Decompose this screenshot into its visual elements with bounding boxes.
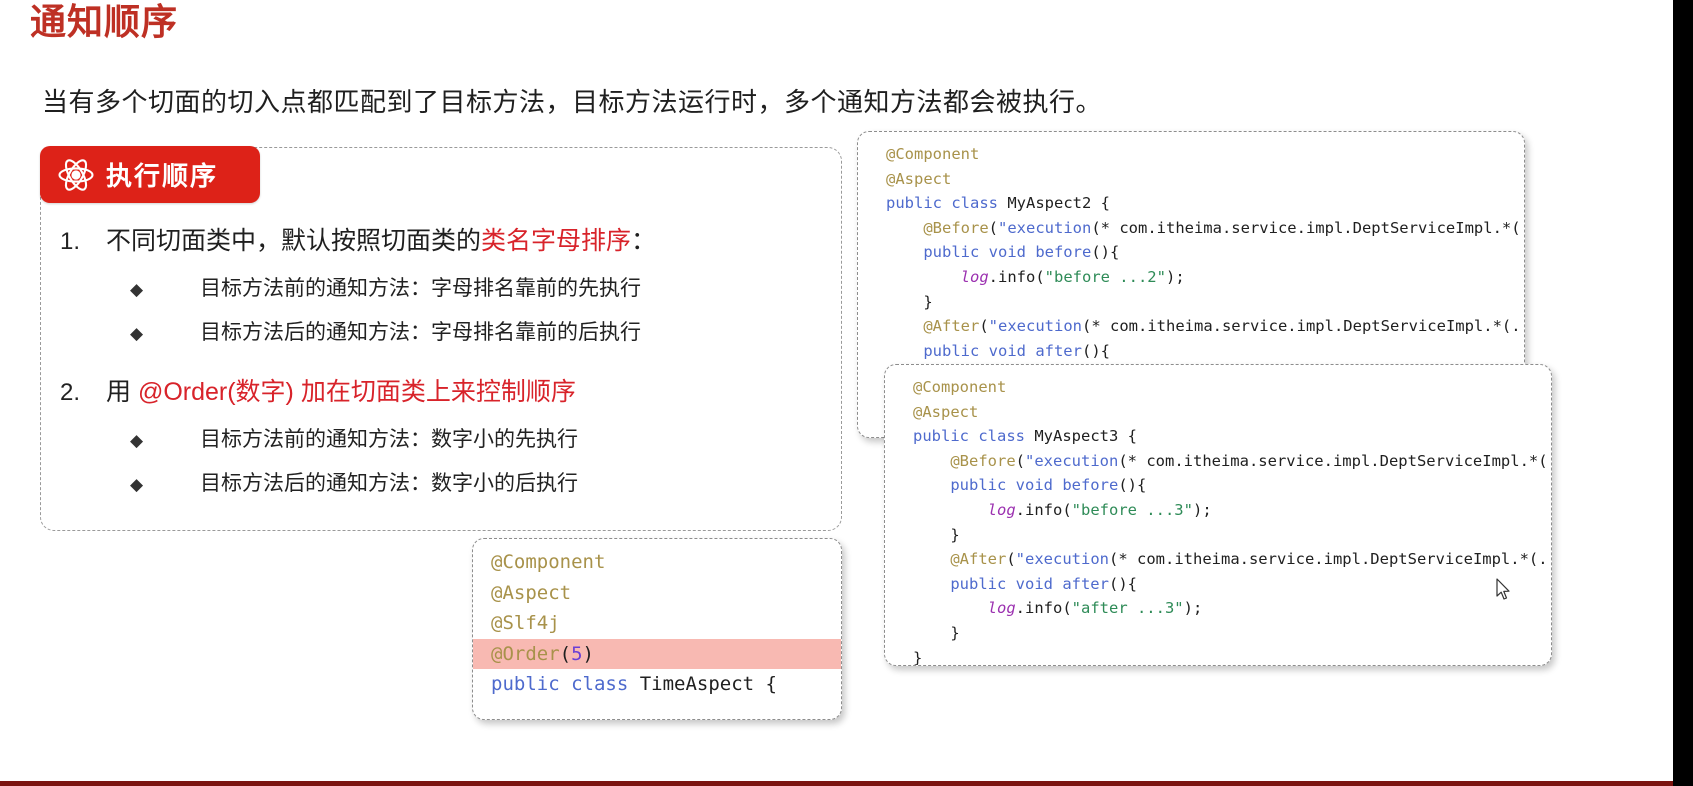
code-panel-timeaspect[interactable]: @Component @Aspect @Slf4j @Order(5) publ…	[472, 538, 842, 720]
code-line: log.info("before ...2");	[886, 265, 1524, 290]
rule-1-sub-2-text: 目标方法后的通知方法：字母排名靠前的后执行	[186, 316, 641, 350]
execution-order-badge: 执行顺序	[40, 146, 260, 203]
rule-1-sub-1: ◆ 目标方法前的通知方法：字母排名靠前的先执行	[60, 272, 830, 307]
code-line: public class MyAspect3 {	[913, 424, 1551, 449]
code-line: public void after(){	[913, 572, 1551, 597]
code-line: }	[913, 621, 1551, 646]
code-panel-myaspect3[interactable]: @Component @Aspect public class MyAspect…	[884, 364, 1552, 666]
code-line: @Component	[473, 547, 841, 578]
diamond-bullet-icon: ◆	[60, 424, 186, 458]
rule-2-text: 用 @Order(数字) 加在切面类上来控制顺序	[106, 373, 576, 411]
code-line-highlighted: @Order(5)	[473, 639, 841, 670]
rule-1-text: 不同切面类中，默认按照切面类的类名字母排序：	[106, 222, 656, 260]
diamond-bullet-icon: ◆	[60, 317, 186, 351]
rules-list: 1. 不同切面类中，默认按照切面类的类名字母排序： ◆ 目标方法前的通知方法：字…	[60, 222, 830, 511]
rule-item-2: 2. 用 @Order(数字) 加在切面类上来控制顺序	[60, 373, 830, 412]
rule-1-sub-2: ◆ 目标方法后的通知方法：字母排名靠前的后执行	[60, 316, 830, 351]
code-line: @Component	[886, 142, 1524, 167]
rule-2-number: 2.	[60, 374, 106, 412]
rule-item-1: 1. 不同切面类中，默认按照切面类的类名字母排序：	[60, 222, 830, 261]
code-line: public void before(){	[913, 473, 1551, 498]
rule-1-text-before: 不同切面类中，默认按照切面类的	[106, 227, 481, 255]
code-line: }	[913, 646, 1551, 666]
rule-2-highlight: @Order(数字) 加在切面类上来控制顺序	[138, 378, 576, 406]
code-line: log.info("before ...3");	[913, 498, 1551, 523]
code-line: }	[886, 290, 1524, 315]
diamond-bullet-icon: ◆	[60, 468, 186, 502]
code-line: @Aspect	[913, 400, 1551, 425]
code-line: @After("execution(* com.itheima.service.…	[913, 547, 1551, 572]
atom-icon	[54, 153, 98, 197]
slide-canvas: 通知顺序 当有多个切面的切入点都匹配到了目标方法，目标方法运行时，多个通知方法都…	[0, 0, 1693, 786]
rule-2-text-before: 用	[106, 378, 138, 406]
code-line: }	[913, 523, 1551, 548]
right-edge-strip	[1673, 0, 1693, 786]
code-line: @Slf4j	[473, 608, 841, 639]
code-line: log.info("after ...3");	[913, 596, 1551, 621]
execution-order-badge-label: 执行顺序	[106, 156, 218, 193]
rule-1-text-after: ：	[631, 227, 656, 255]
code-line: @Aspect	[473, 578, 841, 609]
code-line: @After("execution(* com.itheima.service.…	[886, 314, 1524, 339]
bottom-accent-line	[0, 781, 1673, 786]
rule-2-sub-1: ◆ 目标方法前的通知方法：数字小的先执行	[60, 423, 830, 458]
code-line: public class TimeAspect {	[473, 669, 841, 700]
code-line: public void after(){	[886, 339, 1524, 364]
rule-2-sub-2-text: 目标方法后的通知方法：数字小的后执行	[186, 467, 578, 501]
rule-1-highlight: 类名字母排序	[481, 227, 631, 255]
rule-1-sub-1-text: 目标方法前的通知方法：字母排名靠前的先执行	[186, 272, 641, 306]
slide-subtitle: 当有多个切面的切入点都匹配到了目标方法，目标方法运行时，多个通知方法都会被执行。	[42, 81, 1102, 123]
rule-2-sub-1-text: 目标方法前的通知方法：数字小的先执行	[186, 423, 578, 457]
code-line: @Component	[913, 375, 1551, 400]
code-line: public class MyAspect2 {	[886, 191, 1524, 216]
code-line: @Before("execution(* com.itheima.service…	[913, 449, 1551, 474]
rule-1-number: 1.	[60, 223, 106, 261]
mouse-pointer-icon	[1496, 578, 1512, 602]
code-line: @Before("execution(* com.itheima.service…	[886, 216, 1524, 241]
page-title: 通知顺序	[30, 0, 178, 46]
diamond-bullet-icon: ◆	[60, 273, 186, 307]
code-line: public void before(){	[886, 240, 1524, 265]
rule-2-sub-2: ◆ 目标方法后的通知方法：数字小的后执行	[60, 467, 830, 502]
code-line: @Aspect	[886, 167, 1524, 192]
